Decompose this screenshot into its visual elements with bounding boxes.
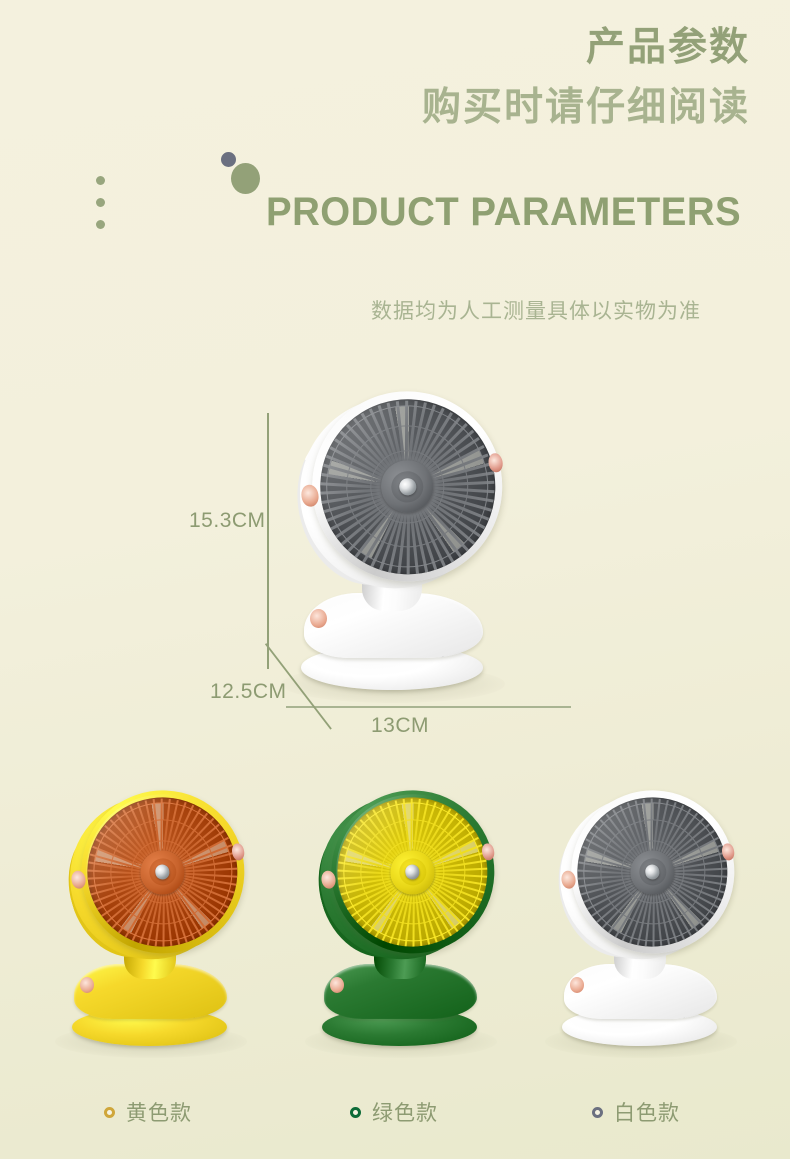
height-dimension-label: 15.3CM <box>189 509 266 533</box>
variant-product-image-yellow[interactable] <box>45 785 260 1070</box>
color-option-label: 绿色款 <box>372 1097 438 1127</box>
clip-side-accent <box>80 977 94 993</box>
fan-head <box>311 778 507 974</box>
hero-product-image <box>270 385 550 695</box>
measurement-disclaimer: 数据均为人工测量具体以实物为准 <box>371 295 701 325</box>
page-title-cn-secondary: 购买时请仔细阅读 <box>422 84 750 132</box>
variant-product-image-white[interactable] <box>535 785 750 1070</box>
decorative-dot-column <box>96 176 105 242</box>
fan-grille <box>307 386 507 586</box>
fan-head <box>61 778 257 974</box>
fan-grille <box>567 786 738 957</box>
decorative-dot <box>96 198 105 207</box>
fan-grille <box>327 786 498 957</box>
decorative-dot-dark <box>221 152 236 167</box>
fan-grille <box>77 786 248 957</box>
decorative-dot <box>96 220 105 229</box>
product-parameters-page: 产品参数 购买时请仔细阅读 PRODUCT PARAMETERS 数据均为人工测… <box>0 0 790 1159</box>
variant-product-image-green[interactable] <box>295 785 510 1070</box>
color-swatch-white-icon <box>592 1107 603 1118</box>
color-option-white[interactable]: 白色款 <box>592 1097 680 1127</box>
color-option-green[interactable]: 绿色款 <box>350 1097 438 1127</box>
color-option-yellow[interactable]: 黄色款 <box>104 1097 192 1127</box>
clip-side-accent <box>310 609 327 628</box>
width-dimension-label: 13CM <box>371 714 429 738</box>
clip-side-accent <box>330 977 344 993</box>
page-title-en: PRODUCT PARAMETERS <box>266 188 741 236</box>
decorative-dot <box>96 176 105 185</box>
height-measure-line <box>267 413 269 669</box>
color-swatch-yellow-icon <box>104 1107 115 1118</box>
fan-head <box>289 377 517 605</box>
color-option-label: 黄色款 <box>126 1097 192 1127</box>
decorative-circle-accent <box>231 163 260 194</box>
clip-side-accent <box>570 977 584 993</box>
fan-head <box>551 778 747 974</box>
color-swatch-green-icon <box>350 1107 361 1118</box>
page-title-cn-primary: 产品参数 <box>586 24 750 72</box>
color-option-label: 白色款 <box>614 1097 680 1127</box>
